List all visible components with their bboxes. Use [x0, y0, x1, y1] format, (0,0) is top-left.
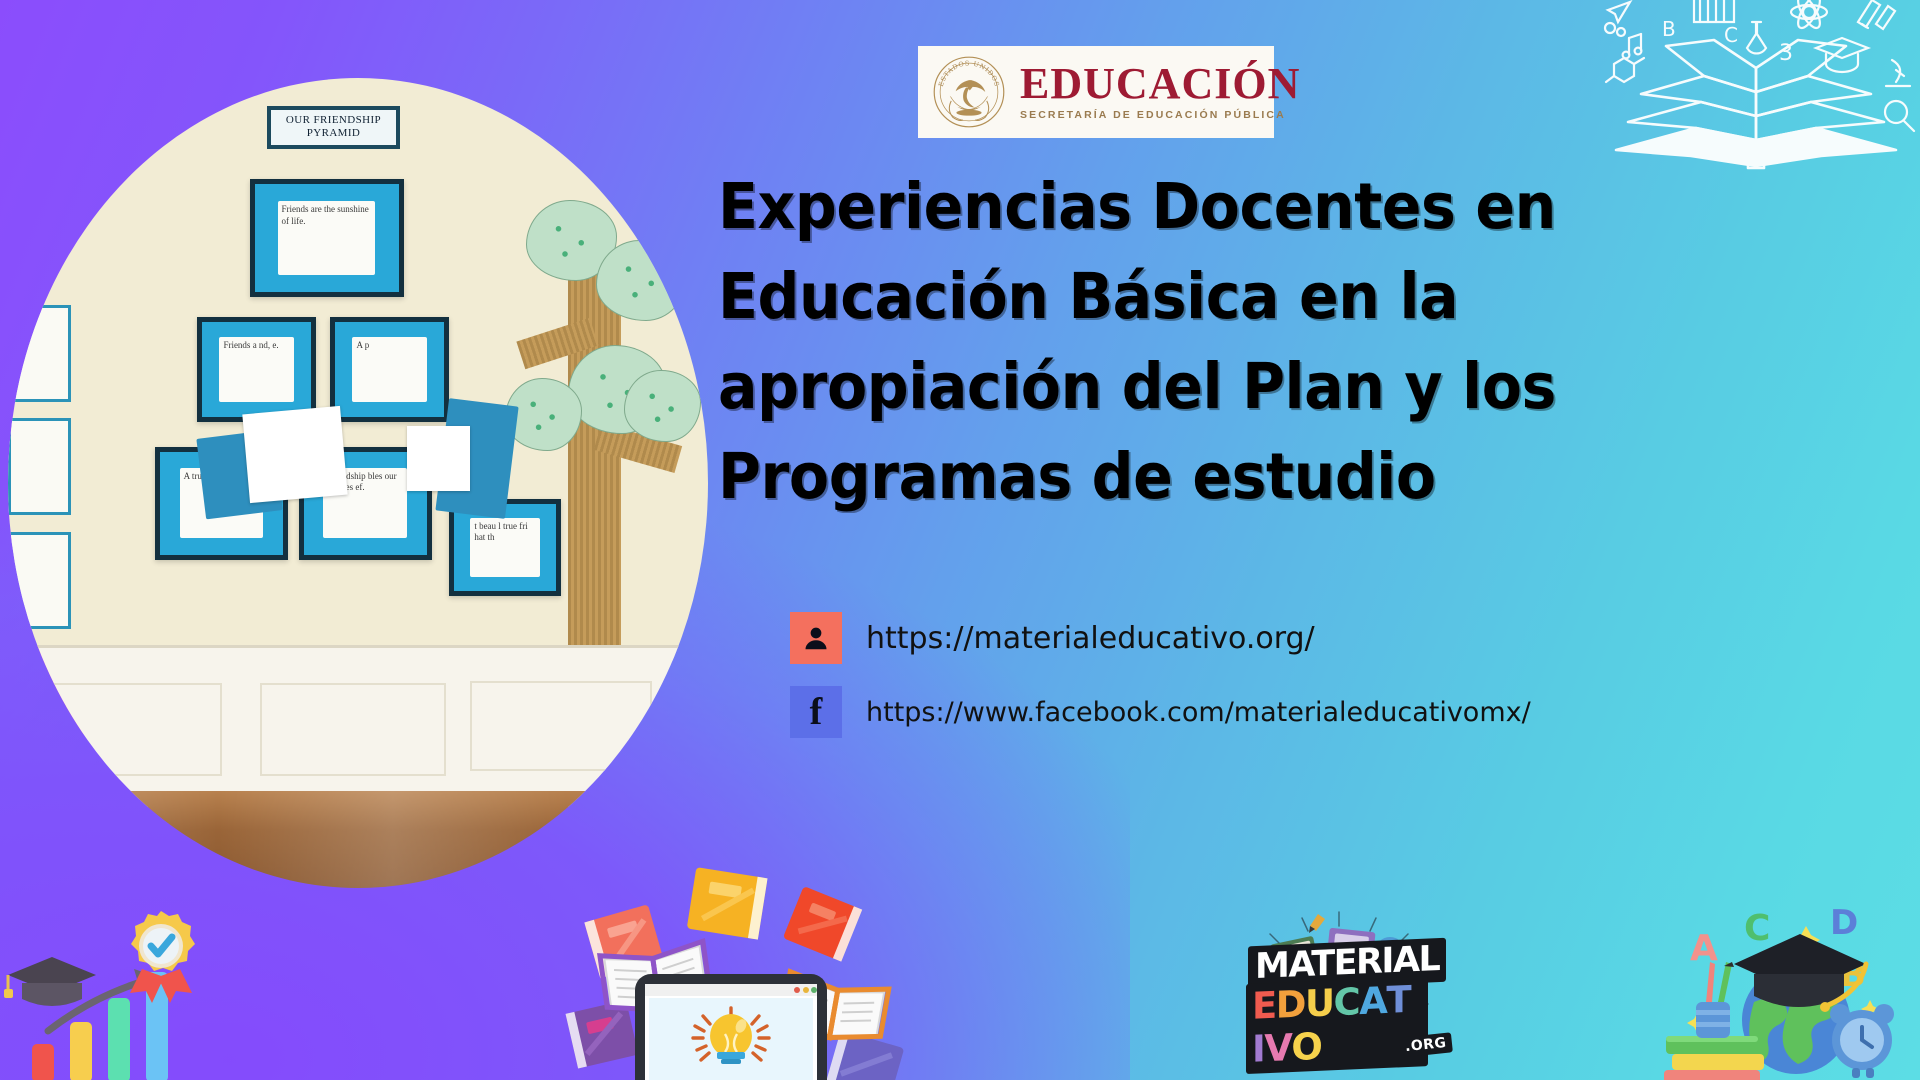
sep-logo: ESTADOS UNIDOS MEXICANOS EDUCACIÓN SECRE… — [918, 46, 1274, 138]
logo-letter: C — [1334, 980, 1360, 1024]
bottom-left-decoration — [2, 889, 272, 1080]
white-paper — [242, 406, 347, 503]
facebook-icon: f — [790, 686, 842, 738]
website-link-row[interactable]: https://materialeducativo.org/ — [790, 612, 1531, 664]
svg-text:B: B — [1662, 17, 1676, 41]
wall-poster — [8, 532, 71, 629]
title-line: Programas de estudio — [718, 432, 1783, 522]
mexico-coat-of-arms-icon: ESTADOS UNIDOS MEXICANOS — [932, 55, 1006, 129]
globe-graduation-3d-illustration: A C D B — [1664, 903, 1894, 1080]
bulletin-board-note: Friends a nd, e. — [197, 317, 316, 422]
page-title: Experiencias Docentes en Educación Básic… — [718, 162, 1783, 522]
facebook-glyph: f — [810, 693, 823, 731]
sep-subtitle: SECRETARÍA DE EDUCACIÓN PÚBLICA — [1020, 109, 1300, 121]
svg-text:D: D — [1830, 903, 1858, 943]
wall-poster — [8, 418, 71, 515]
bulletin-title-board: OUR FRIENDSHIP PYRAMID — [267, 106, 400, 150]
note-text: Friends are the sunshine of life. — [278, 201, 376, 274]
svg-text:3: 3 — [1779, 41, 1793, 66]
logo-letter: V — [1264, 1026, 1291, 1070]
title-line: apropiación del Plan y los — [718, 342, 1783, 432]
logo-letter: T — [1386, 978, 1410, 1022]
facebook-url[interactable]: https://www.facebook.com/materialeducati… — [866, 697, 1531, 728]
logo-letter: E — [1252, 984, 1276, 1028]
links-section: https://materialeducativo.org/ f https:/… — [790, 612, 1531, 760]
logo-letter: I — [1252, 1027, 1264, 1071]
note-text: t beau l true fri hat th — [470, 518, 539, 577]
website-url[interactable]: https://materialeducativo.org/ — [866, 621, 1315, 656]
tablet-lightbulb-illustration — [635, 974, 827, 1080]
white-paper — [407, 426, 470, 491]
title-line: Educación Básica en la — [718, 252, 1783, 342]
bulletin-board-note: Friends are the sunshine of life. — [250, 179, 404, 296]
svg-text:A: A — [1690, 928, 1718, 969]
bottom-right-decoration: A C D B — [1662, 882, 1912, 1080]
material-educativo-logo[interactable]: MATERIAL EDUCATIVO .ORG — [1232, 908, 1447, 1053]
logo-line-educativo: EDUCATIVO — [1246, 976, 1428, 1074]
open-book-line-art-icon: B C 3 — [1596, 0, 1920, 180]
svg-text:C: C — [1744, 908, 1770, 949]
note-text: Friends a nd, e. — [219, 337, 293, 402]
bulletin-board-note: A p — [330, 317, 449, 422]
title-line: Experiencias Docentes en — [718, 162, 1783, 252]
logo-letter: O — [1291, 1025, 1321, 1069]
bottom-center-decoration — [545, 856, 915, 1080]
graduation-cap-icon — [4, 957, 96, 1006]
paper-tree-leaf — [624, 370, 701, 443]
wall-wainscot-panel — [470, 681, 652, 772]
facebook-link-row[interactable]: f https://www.facebook.com/materialeduca… — [790, 686, 1531, 738]
person-icon — [790, 612, 842, 664]
logo-letter: A — [1359, 979, 1386, 1023]
svg-text:C: C — [1724, 23, 1738, 47]
paper-tree-leaf — [596, 240, 687, 321]
note-text: A p — [352, 337, 426, 402]
sep-wordmark: EDUCACIÓN — [1020, 63, 1300, 105]
classroom-photo: OUR FRIENDSHIP PYRAMID Friends are the s… — [8, 78, 708, 888]
wall-poster — [8, 305, 71, 402]
logo-letter: U — [1305, 981, 1334, 1025]
logo-letter: D — [1276, 982, 1305, 1026]
